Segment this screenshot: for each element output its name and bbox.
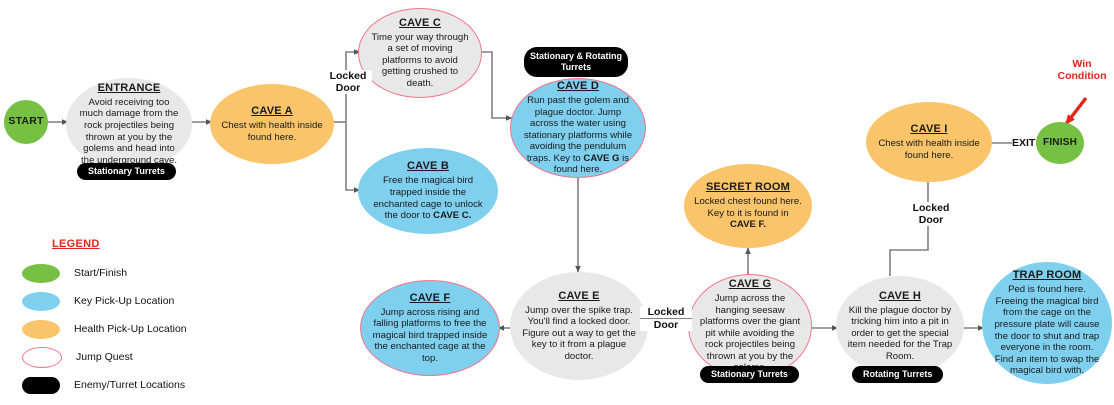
node-cave-h-title: CAVE H [879,290,921,303]
node-start[interactable]: START [4,100,48,144]
node-cave-d-body: Run past the golem and plague doctor. Ju… [521,95,635,176]
node-cave-b-body: Free the magical bird trapped inside the… [368,175,488,221]
badge-entrance-turrets: Stationary Turrets [77,163,176,180]
legend-label-jump-quest: Jump Quest [76,351,133,363]
legend-swatch-hollow-ellipse [22,347,62,368]
node-cave-b-body-bold: CAVE C. [433,210,471,221]
legend-swatch-blue-ellipse [22,292,60,311]
edge-label-locked-door-cave-i-line1: Locked [906,202,956,214]
node-cave-i[interactable]: CAVE I Chest with health inside found he… [866,102,992,182]
legend-label-enemy-turret: Enemy/Turret Locations [74,379,185,391]
node-cave-b-title: CAVE B [407,160,449,173]
annotation-win-condition-line2: Condition [1052,70,1112,82]
node-entrance[interactable]: ENTRANCE Avoid receiving too much damage… [66,78,192,170]
badge-cave-g-turrets: Stationary Turrets [700,366,799,383]
node-cave-f-body: Jump across rising and falling platforms… [371,307,489,365]
node-cave-a[interactable]: CAVE A Chest with health inside found he… [210,84,334,164]
legend-item-key-pickup: Key Pick-Up Location [22,288,252,314]
node-start-title: START [8,115,43,128]
edge-label-locked-door-cave-a-line2: Door [324,82,372,94]
node-secret-room-body-bold: CAVE F. [730,219,766,230]
node-secret-room-body-pre: Locked chest found here. Key to it is fo… [694,196,802,219]
legend: LEGEND Start/Finish Key Pick-Up Location… [22,238,252,400]
node-trap-room-title: TRAP ROOM [1013,269,1082,282]
node-cave-d-body-bold: CAVE G [583,153,619,164]
node-cave-f[interactable]: CAVE F Jump across rising and falling pl… [360,280,500,376]
node-cave-c-body: Time your way through a set of moving pl… [369,32,471,90]
edge-label-locked-door-cave-e: Locked Door [640,306,692,331]
node-cave-g[interactable]: CAVE G Jump across the hanging seesaw pl… [688,274,812,378]
legend-swatch-black-pill [22,377,60,394]
node-secret-room[interactable]: SECRET ROOM Locked chest found here. Key… [684,164,812,248]
node-cave-a-title: CAVE A [251,105,293,118]
edge-label-exit: EXIT [1012,137,1035,149]
node-cave-e-title: CAVE E [558,290,599,303]
node-finish-title: FINISH [1043,136,1077,149]
annotation-win-condition: Win Condition [1052,58,1112,82]
legend-item-health-pickup: Health Pick-Up Location [22,316,252,342]
edge-label-locked-door-cave-e-line2: Door [640,318,692,331]
node-cave-h-body: Kill the plague doctor by tricking him i… [846,305,954,363]
node-cave-d[interactable]: CAVE D Run past the golem and plague doc… [510,78,646,178]
badge-cave-d-turrets: Stationary & Rotating Turrets [524,47,628,77]
node-cave-h[interactable]: CAVE H Kill the plague doctor by trickin… [836,276,964,376]
legend-item-start-finish: Start/Finish [22,260,252,286]
edge-label-locked-door-cave-i: Locked Door [906,202,956,226]
node-trap-room[interactable]: TRAP ROOM Ped is found here. Freeing the… [982,262,1112,384]
legend-label-key-pickup: Key Pick-Up Location [74,295,174,307]
legend-item-jump-quest: Jump Quest [22,344,252,370]
node-cave-d-title: CAVE D [557,80,599,93]
badge-cave-h-turrets: Rotating Turrets [852,366,943,383]
node-cave-e[interactable]: CAVE E Jump over the spike trap. You'll … [510,272,648,380]
node-cave-i-body: Chest with health inside found here. [876,138,982,161]
legend-swatch-orange-ellipse [22,320,60,339]
node-cave-g-title: CAVE G [729,278,772,291]
node-trap-room-body: Ped is found here. Freeing the magical b… [992,284,1102,377]
node-entrance-title: ENTRANCE [98,82,161,95]
node-finish[interactable]: FINISH [1036,122,1084,164]
legend-item-enemy-turret: Enemy/Turret Locations [22,372,252,398]
edge-label-locked-door-cave-e-line1: Locked [640,306,692,318]
node-cave-c-title: CAVE C [399,17,441,30]
edge-label-locked-door-cave-i-line2: Door [906,214,956,226]
node-secret-room-title: SECRET ROOM [706,181,790,194]
legend-label-health-pickup: Health Pick-Up Location [74,323,187,335]
node-cave-f-title: CAVE F [410,292,451,305]
flowchart-canvas: START ENTRANCE Avoid receiving too much … [0,0,1114,405]
node-cave-c[interactable]: CAVE C Time your way through a set of mo… [358,8,482,98]
node-cave-e-body: Jump over the spike trap. You'll find a … [520,305,638,363]
node-cave-g-body: Jump across the hanging seesaw platforms… [699,293,801,374]
node-entrance-body: Avoid receiving too much damage from the… [76,97,182,167]
node-cave-a-body: Chest with health inside found here. [220,120,324,143]
annotation-win-condition-line1: Win [1052,58,1112,70]
legend-title: LEGEND [52,238,252,250]
edge-label-locked-door-cave-a-line1: Locked [324,70,372,82]
node-cave-b[interactable]: CAVE B Free the magical bird trapped ins… [358,148,498,234]
node-cave-i-title: CAVE I [910,123,947,136]
edge-label-locked-door-cave-a: Locked Door [324,70,372,94]
legend-swatch-green-ellipse [22,264,60,283]
node-secret-room-body: Locked chest found here. Key to it is fo… [694,196,802,231]
legend-label-start-finish: Start/Finish [74,267,127,279]
